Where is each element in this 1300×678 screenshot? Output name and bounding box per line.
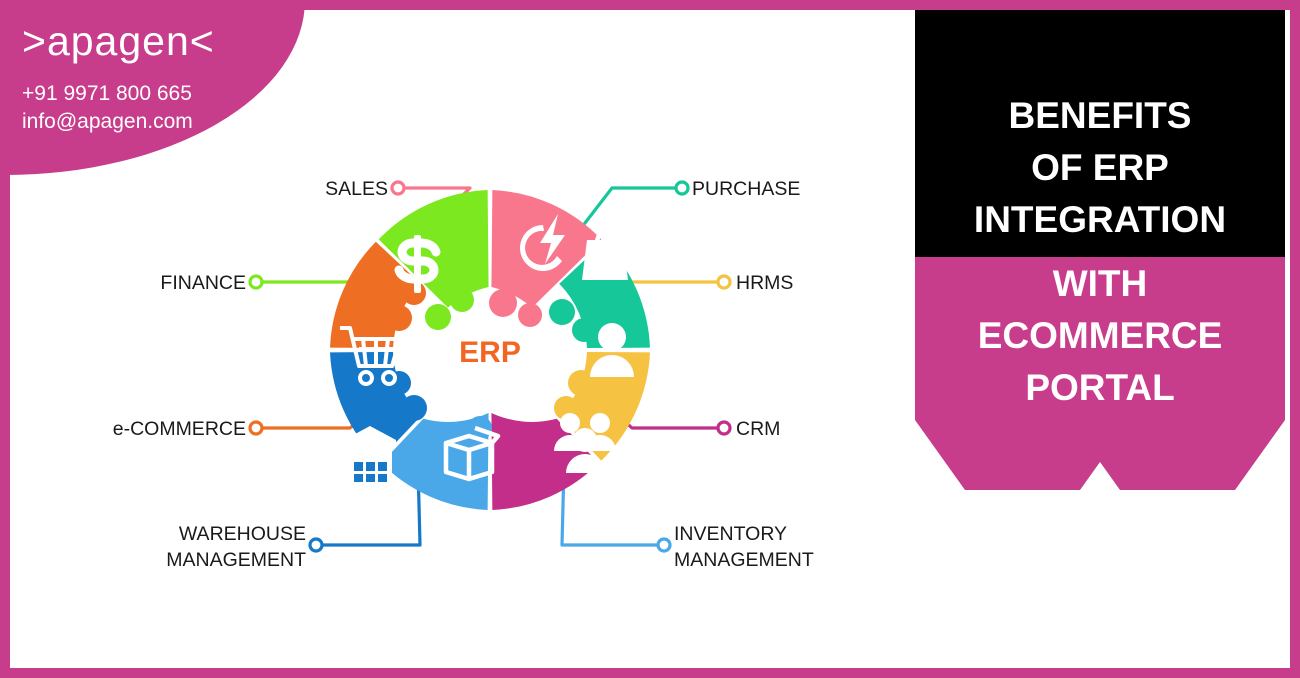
connector-dot-finance <box>250 276 262 288</box>
erp-wheel-diagram: ERP SALES FINANCE e-COMMERCE WAREHOUSE M… <box>240 140 860 590</box>
label-purchase: PURCHASE <box>692 178 800 200</box>
label-warehouse-line1: WAREHOUSE <box>179 523 306 545</box>
brand-phone: +91 9971 800 665 <box>22 82 192 106</box>
label-inventory-line2: MANAGEMENT <box>674 549 814 571</box>
brand-logo: >apagen< <box>22 18 215 65</box>
segment-crm-knob2 <box>508 440 532 464</box>
segment-purchase-knob2 <box>572 318 596 342</box>
label-inventory-line1: INVENTORY <box>674 523 787 545</box>
label-finance: FINANCE <box>160 272 246 294</box>
title-ribbon: BENEFITS OF ERP INTEGRATION WITH ECOMMER… <box>905 0 1295 555</box>
segment-sales-knob <box>489 289 517 317</box>
label-hrms: HRMS <box>736 272 793 294</box>
connector-dot-crm <box>718 422 730 434</box>
banner-line-5: ECOMMERCE <box>978 315 1223 356</box>
segment-purchase-knob <box>549 299 575 325</box>
banner-line-1: BENEFITS <box>1009 95 1192 136</box>
segment-sales-knob2 <box>518 303 542 327</box>
brand-email: info@apagen.com <box>22 110 193 134</box>
wheel-center-label: ERP <box>459 336 521 369</box>
label-ecommerce: e-COMMERCE <box>113 418 246 440</box>
label-crm: CRM <box>736 418 780 440</box>
segment-crm-knob <box>529 422 555 448</box>
segment-finance-knob <box>425 304 451 330</box>
banner-line-6: PORTAL <box>1025 367 1174 408</box>
banner-line-3: INTEGRATION <box>974 199 1226 240</box>
label-warehouse-line2: MANAGEMENT <box>166 549 306 571</box>
connector-dot-purchase <box>676 182 688 194</box>
connector-dot-hrms <box>718 276 730 288</box>
segment-crm[interactable] <box>491 413 616 510</box>
connector-dot-inventory <box>658 539 670 551</box>
segment-ecommerce-knob <box>386 305 412 331</box>
connector-dot-ecommerce <box>250 422 262 434</box>
segment-warehouse-knob <box>401 395 427 421</box>
infographic-canvas: >apagen< +91 9971 800 665 info@apagen.co… <box>0 0 1300 678</box>
connector-dot-warehouse <box>310 539 322 551</box>
banner-line-2: OF ERP <box>1031 147 1169 188</box>
banner-line-4: WITH <box>1053 263 1148 304</box>
label-sales: SALES <box>325 178 388 200</box>
segment-finance-knob2 <box>450 288 474 312</box>
connector-dot-sales <box>392 182 404 194</box>
segment-hrms-knob <box>568 370 594 396</box>
